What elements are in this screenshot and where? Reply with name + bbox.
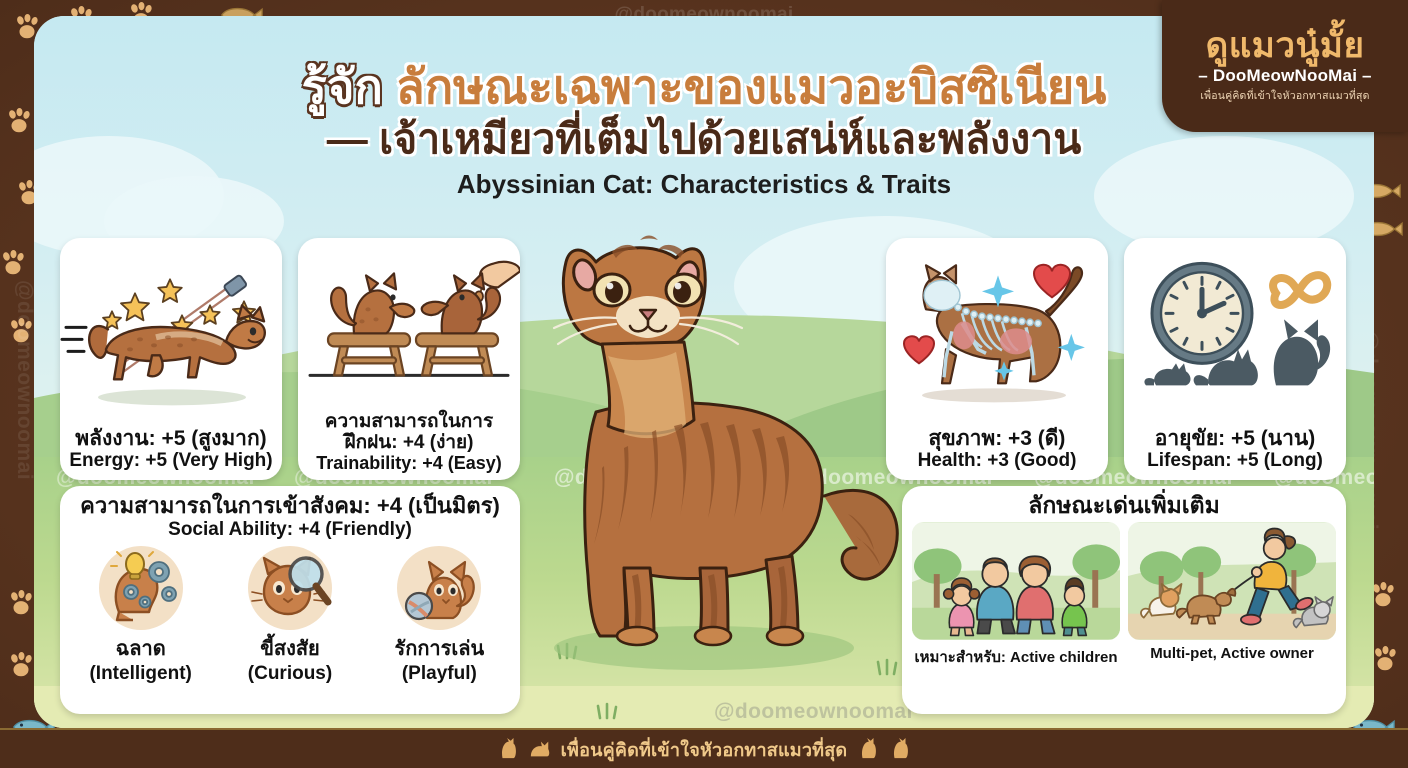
page-subtitle-english: Abyssinian Cat: Characteristics & Traits — [34, 169, 1374, 200]
lifespan-label-thai: อายุขัย: +5 (นาน) — [1128, 427, 1342, 451]
extra-pane-multipet[interactable]: Multi-pet, Active owner — [1128, 522, 1336, 669]
social-label-english: Social Ability: +4 (Friendly) — [66, 519, 514, 541]
energy-label-english: Energy: +5 (Very High) — [64, 450, 278, 472]
lifespan-card-label: อายุขัย: +5 (นาน) Lifespan: +5 (Long) — [1124, 427, 1346, 480]
paw-print-icon — [0, 248, 28, 278]
brand-logo-panel[interactable]: ดูแมวนู๋มั้ย – DooMeowNooMai – เพื่อนคู่… — [1162, 0, 1408, 132]
extra-title-thai: ลักษณะเด่นเพิ่มเติม — [902, 493, 1346, 519]
health-label-thai: สุขภาพ: +3 (ดี) — [890, 427, 1104, 451]
trainability-label-thai-2: ฝึกฝน: +4 (ง่าย) — [302, 432, 516, 453]
trait-label-thai: รักการเล่น — [394, 632, 484, 664]
brand-name-latin: – DooMeowNooMai – — [1198, 66, 1371, 86]
cat-skeleton-with-hearts-icon — [886, 238, 1108, 427]
footer-text: เพื่อนคู่คิดที่เข้าใจหัวอกทาสแมวที่สุด — [561, 735, 848, 764]
social-label-thai: ความสามารถในการเข้าสังคม: +4 (เป็นมิตร) — [66, 494, 514, 519]
brand-tagline: เพื่อนคู่คิดที่เข้าใจหัวอกทาสแมวที่สุด — [1200, 87, 1369, 104]
extra-pane-caption: เหมาะสำหรับ: Active children — [914, 645, 1117, 669]
social-trait-playful[interactable]: รักการเล่น (Playful) — [365, 546, 513, 684]
title-highlight: ลักษณะเฉพาะของแมวอะบิสซิเนียน — [396, 60, 1107, 113]
social-ability-card[interactable]: ความสามารถในการเข้าสังคม: +4 (เป็นมิตร) … — [60, 486, 520, 714]
lifespan-label-english: Lifespan: +5 (Long) — [1128, 450, 1342, 472]
cat-silhouette-icon — [857, 738, 879, 760]
social-trait-intelligent[interactable]: ฉลาด (Intelligent) — [67, 546, 215, 684]
footer-bar: เพื่อนคู่คิดที่เข้าใจหัวอกทาสแมวที่สุด — [0, 728, 1408, 768]
energy-label-thai: พลังงาน: +5 (สูงมาก) — [64, 427, 278, 451]
extra-traits-card[interactable]: ลักษณะเด่นเพิ่มเติม — [902, 486, 1346, 714]
cat-with-ball-icon — [397, 546, 481, 630]
cat-magnifier-icon — [248, 546, 332, 630]
clock-infinity-cats-icon — [1124, 238, 1346, 427]
trainability-label-english: Trainability: +4 (Easy) — [302, 453, 516, 474]
head-lightbulb-gears-icon — [99, 546, 183, 630]
trait-card-lifespan[interactable]: อายุขัย: +5 (นาน) Lifespan: +5 (Long) — [1124, 238, 1346, 480]
paw-print-icon — [1370, 644, 1400, 674]
energy-card-label: พลังงาน: +5 (สูงมาก) Energy: +5 (Very Hi… — [60, 427, 282, 480]
cat-silhouette-icon — [889, 738, 911, 760]
social-trait-list: ฉลาด (Intelligent) — [60, 542, 520, 692]
lifespan-card-art — [1124, 238, 1346, 427]
trait-label-thai: ฉลาด — [116, 632, 166, 664]
trait-card-trainability[interactable]: ความสามารถในการ ฝึกฝน: +4 (ง่าย) Trainab… — [298, 238, 520, 480]
cat-silhouette-icon — [497, 738, 519, 760]
trait-card-health[interactable]: สุขภาพ: +3 (ดี) Health: +3 (Good) — [886, 238, 1108, 480]
brand-name-thai: ดูแมวนู๋มั้ย — [1205, 28, 1364, 65]
trainability-card-art — [298, 238, 520, 411]
trait-label-english: (Curious) — [248, 664, 332, 684]
social-card-heading: ความสามารถในการเข้าสังคม: +4 (เป็นมิตร) … — [60, 486, 520, 542]
jogger-with-pets-icon — [1128, 522, 1336, 640]
extra-pane-caption: Multi-pet, Active owner — [1150, 645, 1314, 662]
trait-card-energy[interactable]: พลังงาน: +5 (สูงมาก) Energy: +5 (Very Hi… — [60, 238, 282, 480]
trait-label-english: (Playful) — [402, 664, 477, 684]
trainability-label-thai-1: ความสามารถในการ — [302, 411, 516, 432]
cat-silhouette-icon — [529, 738, 551, 760]
extra-card-heading: ลักษณะเด่นเพิ่มเติม — [902, 486, 1346, 522]
trait-label-thai: ขี้สงสัย — [260, 632, 320, 664]
side-watermark-left: @doomeownoomai — [12, 280, 36, 480]
family-with-children-icon — [912, 522, 1120, 640]
two-cats-on-stools-icon — [298, 238, 520, 411]
abyssinian-cat-illustration — [504, 216, 904, 716]
trait-label-english: (Intelligent) — [89, 664, 191, 684]
health-card-label: สุขภาพ: +3 (ดี) Health: +3 (Good) — [886, 427, 1108, 480]
health-label-english: Health: +3 (Good) — [890, 450, 1104, 472]
trainability-card-label: ความสามารถในการ ฝึกฝน: +4 (ง่าย) Trainab… — [298, 411, 520, 480]
paw-print-icon — [4, 106, 34, 136]
social-trait-curious[interactable]: ขี้สงสัย (Curious) — [216, 546, 364, 684]
running-cat-with-stars-icon — [60, 238, 282, 427]
extra-pane-children[interactable]: เหมาะสำหรับ: Active children — [912, 522, 1120, 669]
extra-pane-list: เหมาะสำหรับ: Active children — [902, 522, 1346, 669]
energy-card-art — [60, 238, 282, 427]
paw-print-icon — [6, 650, 36, 680]
title-prefix: รู้จัก — [302, 60, 383, 113]
health-card-art — [886, 238, 1108, 427]
paw-print-icon — [6, 588, 36, 618]
